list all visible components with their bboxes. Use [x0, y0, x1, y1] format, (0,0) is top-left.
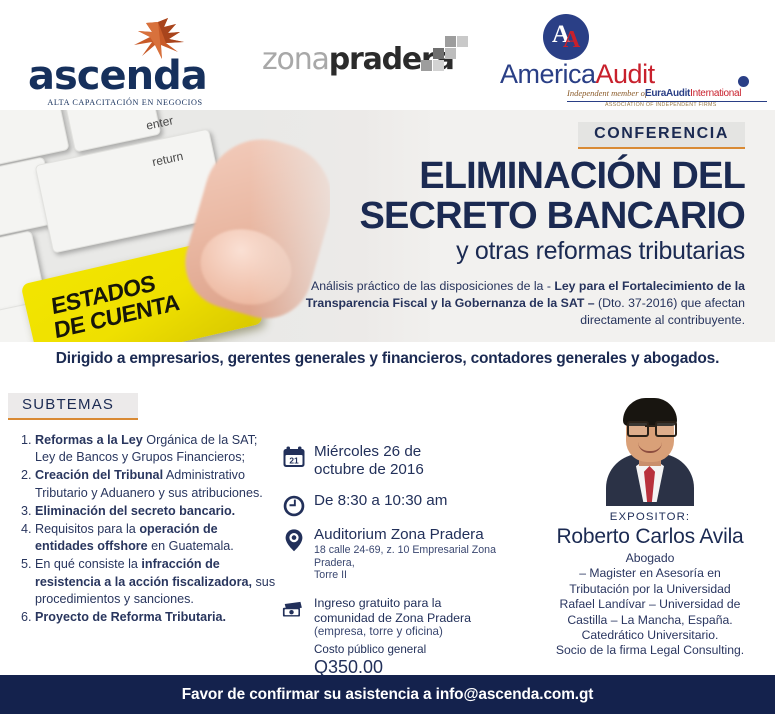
price-label: Costo público general	[314, 643, 532, 657]
americaaudit-logo: A A AmericaAudit Independent member of E…	[505, 14, 755, 104]
description-mid: (Dto. 37-2016) que afectan directamente …	[580, 296, 745, 327]
zonapradera-squares-icon	[417, 36, 469, 78]
hero-banner: enter return ESTADOS DE CUENTA CONFERENC…	[0, 110, 775, 342]
headline-line-2: SECRETO BANCARIO	[265, 196, 745, 236]
venue-name: Auditorium Zona Pradera	[314, 526, 532, 544]
expositor-label: EXPOSITOR:	[525, 511, 775, 523]
date-line-1: Miércoles 26 de	[314, 443, 532, 461]
bio-line-4: Rafael Landívar – Universidad de	[525, 597, 775, 612]
ascenda-logo: ascenda ALTA CAPACITACIÓN EN NEGOCIOS	[28, 18, 218, 102]
hero-description: Análisis práctico de las disposiciones d…	[275, 278, 745, 329]
conference-flyer: ascenda ALTA CAPACITACIÓN EN NEGOCIOS zo…	[0, 0, 775, 714]
speaker-name: Roberto Carlos Avila	[525, 524, 775, 549]
price-block: Costo público general Q350.00	[314, 643, 532, 678]
america-text: America	[500, 59, 596, 89]
bio-line-2: – Magister en Asesoría en	[525, 566, 775, 581]
clock-icon	[282, 493, 306, 519]
badge-letter-a2: A	[563, 28, 580, 52]
free-line-1: Ingreso gratuito para la	[314, 596, 532, 611]
headline-line-1: ELIMINACIÓN DEL	[265, 156, 745, 196]
independent-member-text: Independent member of	[567, 88, 647, 98]
footer-text: Favor de confirmar su asistencia a info@…	[182, 686, 594, 704]
bio-line-3: Tributación por la Universidad	[525, 582, 775, 597]
free-note: (empresa, torre y oficina)	[314, 626, 532, 639]
address-line-1: 18 calle 24-69, z. 10 Empresarial Zona P…	[314, 544, 532, 569]
subtopics-ordered-list: Reformas a la Ley Orgánica de la SAT; Le…	[14, 432, 276, 627]
speaker-block: EXPOSITOR: Roberto Carlos Avila Abogado …	[525, 392, 775, 659]
ascenda-tagline: ALTA CAPACITACIÓN EN NEGOCIOS	[32, 98, 218, 107]
footer-cta-bar: Favor de confirmar su asistencia a info@…	[0, 675, 775, 714]
bio-line-1: Abogado	[525, 551, 775, 566]
detail-date: 21 Miércoles 26 de octubre de 2016	[282, 443, 532, 479]
list-item: Reformas a la Ley Orgánica de la SAT; Le…	[35, 432, 276, 467]
svg-text:21: 21	[289, 455, 299, 465]
zonapradera-logo: zonapradera	[262, 44, 467, 86]
subtemas-label: SUBTEMAS	[22, 396, 114, 413]
list-item: Requisitos para la operación de entidade…	[35, 521, 276, 556]
calendar-icon: 21	[282, 444, 306, 470]
yellow-key-label: ESTADOS DE CUENTA	[50, 266, 181, 342]
list-item: En qué consiste la infracción de resiste…	[35, 556, 276, 609]
americaaudit-badge-icon: A A	[543, 14, 589, 60]
association-text: ASSOCIATION OF INDEPENDENT FIRMS	[605, 102, 717, 108]
location-pin-icon	[282, 527, 306, 553]
audit-text: Audit	[596, 59, 655, 89]
detail-time: De 8:30 a 10:30 am	[282, 492, 532, 510]
headline-subtitle: y otras reformas tributarias	[265, 236, 745, 266]
free-line-2: comunidad de Zona Pradera	[314, 611, 532, 626]
address-line-2: Torre II	[314, 569, 532, 582]
subtemas-badge: SUBTEMAS	[8, 393, 138, 420]
bio-line-6: Catedrático Universitario.	[525, 628, 775, 643]
audience-line: Dirigido a empresarios, gerentes general…	[0, 350, 775, 368]
subtopics-list: Reformas a la Ley Orgánica de la SAT; Le…	[14, 432, 276, 627]
time-text: De 8:30 a 10:30 am	[314, 492, 532, 510]
speaker-portrait	[598, 392, 702, 506]
ascenda-wordmark: ascenda	[28, 56, 218, 96]
date-line-2: octubre de 2016	[314, 461, 532, 479]
globe-icon	[738, 76, 749, 87]
euraaudit-text: EuraAuditInternational	[645, 88, 741, 99]
headline-block: ELIMINACIÓN DEL SECRETO BANCARIO y otras…	[265, 156, 745, 266]
list-item: Eliminación del secreto bancario.	[35, 503, 276, 521]
money-icon	[282, 597, 306, 623]
conferencia-badge: CONFERENCIA	[578, 122, 745, 149]
detail-price: Ingreso gratuito para la comunidad de Zo…	[282, 596, 532, 679]
bio-line-7: Socio de la firma Legal Consulting.	[525, 643, 775, 658]
euraaudit-line: Independent member of EuraAuditInternati…	[567, 88, 767, 102]
detail-location: Auditorium Zona Pradera 18 calle 24-69, …	[282, 526, 532, 582]
list-item: Creación del Tribunal Administrativo Tri…	[35, 467, 276, 502]
glasses-icon	[627, 421, 673, 433]
speaker-bio: Abogado – Magister en Asesoría en Tribut…	[525, 551, 775, 659]
list-item: Proyecto de Reforma Tributaria.	[35, 609, 276, 627]
conferencia-label: CONFERENCIA	[594, 125, 729, 142]
bio-line-5: Castilla – La Mancha, España.	[525, 613, 775, 628]
sponsor-logo-bar: ascenda ALTA CAPACITACIÓN EN NEGOCIOS zo…	[0, 0, 775, 110]
description-pre: Análisis práctico de las disposiciones d…	[311, 279, 554, 293]
event-details: 21 Miércoles 26 de octubre de 2016 De 8:…	[282, 443, 532, 678]
americaaudit-wordmark: AmericaAudit	[500, 59, 750, 90]
zona-text: zona	[262, 42, 329, 77]
